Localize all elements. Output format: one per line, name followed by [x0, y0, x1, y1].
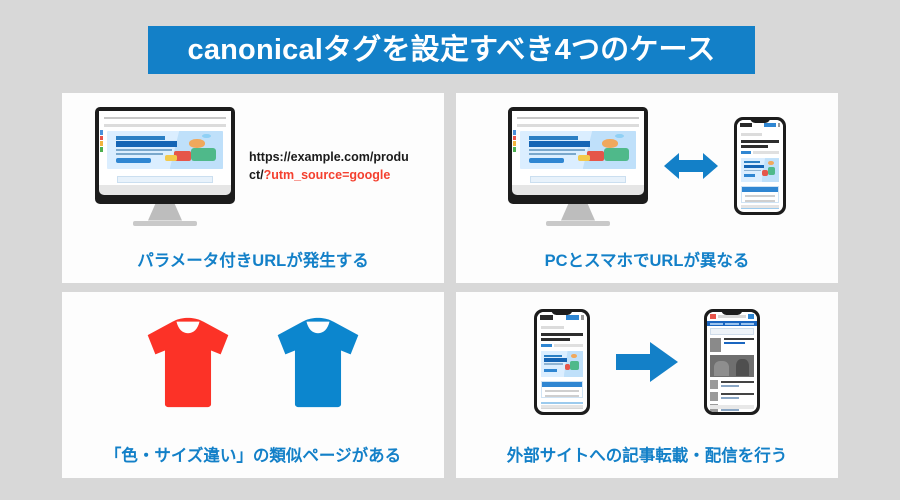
- page-title: canonicalタグを設定すべき4つのケース: [187, 36, 715, 65]
- monitor-stand-neck: [561, 204, 595, 221]
- case-card-grid: https://example.com/product/?utm_source=…: [62, 93, 838, 478]
- destination-smartphone-icon: [704, 309, 760, 415]
- hero-banner: [107, 131, 223, 169]
- phone-notch: [551, 309, 572, 315]
- red-tshirt-icon: [140, 314, 236, 410]
- sidebar-color-strip: [100, 130, 103, 152]
- card-4-visual: [456, 292, 838, 432]
- hero-banner: [520, 131, 636, 169]
- card-3-visual: [62, 292, 444, 432]
- card-external-syndication[interactable]: 外部サイトへの記事転載・配信を行う: [456, 292, 838, 478]
- card-1-visual: https://example.com/product/?utm_source=…: [62, 93, 444, 239]
- phone-screen-mockup: [737, 120, 783, 212]
- website-mockup: [512, 111, 644, 185]
- desktop-monitor-icon: [95, 107, 235, 226]
- website-mockup: [99, 111, 231, 185]
- card-2-visual: [456, 93, 838, 239]
- card-3-caption: 「色・サイズ違い」の類似ページがある: [62, 448, 444, 465]
- smartphone-icon: [734, 117, 786, 215]
- blue-tshirt-icon: [270, 314, 366, 410]
- phone-hero-banner: [541, 351, 583, 377]
- card-parameter-url[interactable]: https://example.com/product/?utm_source=…: [62, 93, 444, 283]
- source-smartphone-icon: [534, 309, 590, 415]
- news-photo: [710, 355, 754, 377]
- monitor-stand-base: [546, 221, 610, 226]
- url-query-param: ?utm_source=google: [264, 168, 391, 182]
- card-color-size-variants[interactable]: 「色・サイズ違い」の類似ページがある: [62, 292, 444, 478]
- phone-notch: [721, 309, 742, 315]
- url-label: https://example.com/product/?utm_source=…: [249, 148, 411, 184]
- phone-hero-banner: [741, 158, 779, 182]
- phone-notch: [750, 117, 770, 123]
- double-arrow-icon: [664, 151, 718, 181]
- monitor-stand-base: [133, 221, 197, 226]
- card-4-caption: 外部サイトへの記事転載・配信を行う: [456, 448, 838, 465]
- sidebar-color-strip: [513, 130, 516, 152]
- right-arrow-icon: [616, 340, 678, 384]
- monitor-stand-neck: [148, 204, 182, 221]
- phone-screen-mockup-source: [537, 312, 587, 412]
- desktop-monitor-icon: [508, 107, 648, 226]
- page-title-bar: canonicalタグを設定すべき4つのケース: [148, 26, 755, 74]
- phone-screen-mockup-news: [707, 312, 757, 412]
- card-1-caption: パラメータ付きURLが発生する: [62, 253, 444, 270]
- card-pc-vs-mobile-url[interactable]: PCとスマホでURLが異なる: [456, 93, 838, 283]
- card-2-caption: PCとスマホでURLが異なる: [456, 253, 838, 270]
